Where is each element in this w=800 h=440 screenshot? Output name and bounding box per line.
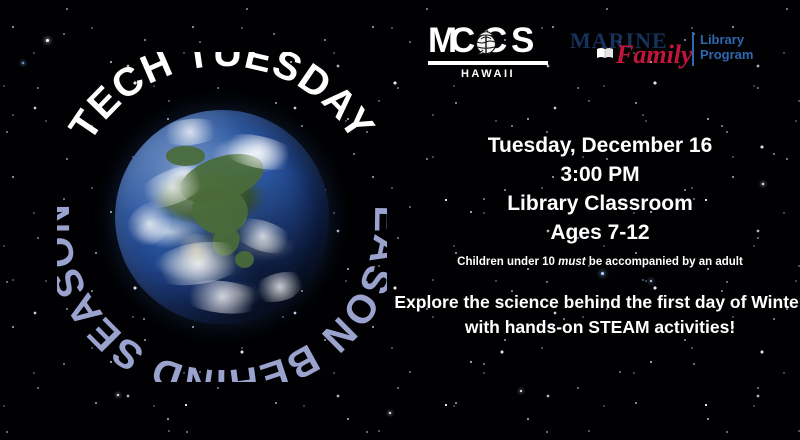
mccs-hawaii-logo: M C C S HAWAII <box>428 24 548 80</box>
bright-star <box>46 39 49 42</box>
event-description: Explore the science behind the first day… <box>390 290 800 340</box>
logo-divider <box>692 32 694 66</box>
mccs-letter-s: S <box>511 24 533 58</box>
event-age-range: Ages 7-12 <box>400 221 800 245</box>
library-line: Library <box>700 32 744 47</box>
supervision-note: Children under 10 must be accompanied by… <box>400 256 800 268</box>
blue-star <box>22 62 24 64</box>
poster-canvas: TECH TUESDAY REASON BEHIND SEASONS M C C… <box>0 0 800 440</box>
note-emphasis: must <box>558 256 585 268</box>
eagle-globe-anchor-icon <box>470 25 502 58</box>
program-line: Program <box>700 47 753 62</box>
mccs-divider-bar <box>428 61 548 65</box>
event-time: 3:00 PM <box>400 163 800 187</box>
bright-star <box>117 394 119 396</box>
description-line-2: with hands-on STEAM activities! <box>465 317 735 337</box>
family-wordmark: Family <box>616 40 693 70</box>
description-line-1: Explore the science behind the first day… <box>394 292 800 312</box>
event-date: Tuesday, December 16 <box>400 134 800 158</box>
marine-family-library-program-logo: MARINE Family Library Program <box>570 26 770 72</box>
event-location: Library Classroom <box>400 192 800 216</box>
circular-title-text: TECH TUESDAY REASON BEHIND SEASONS <box>57 52 387 382</box>
mccs-wordmark: M C C S <box>428 24 548 58</box>
tech-tuesday-badge: TECH TUESDAY REASON BEHIND SEASONS <box>57 52 387 382</box>
mccs-subtitle: HAWAII <box>428 68 548 80</box>
info-panel: M C C S HAWAII MA <box>400 0 800 440</box>
open-book-icon <box>596 46 614 60</box>
note-part-1: Children under 10 <box>457 256 558 268</box>
bright-star <box>389 412 391 414</box>
arc-text-tech-tuesday: TECH TUESDAY <box>61 52 383 148</box>
library-program-label: Library Program <box>700 32 753 62</box>
note-part-2: be accompanied by an adult <box>586 256 743 268</box>
